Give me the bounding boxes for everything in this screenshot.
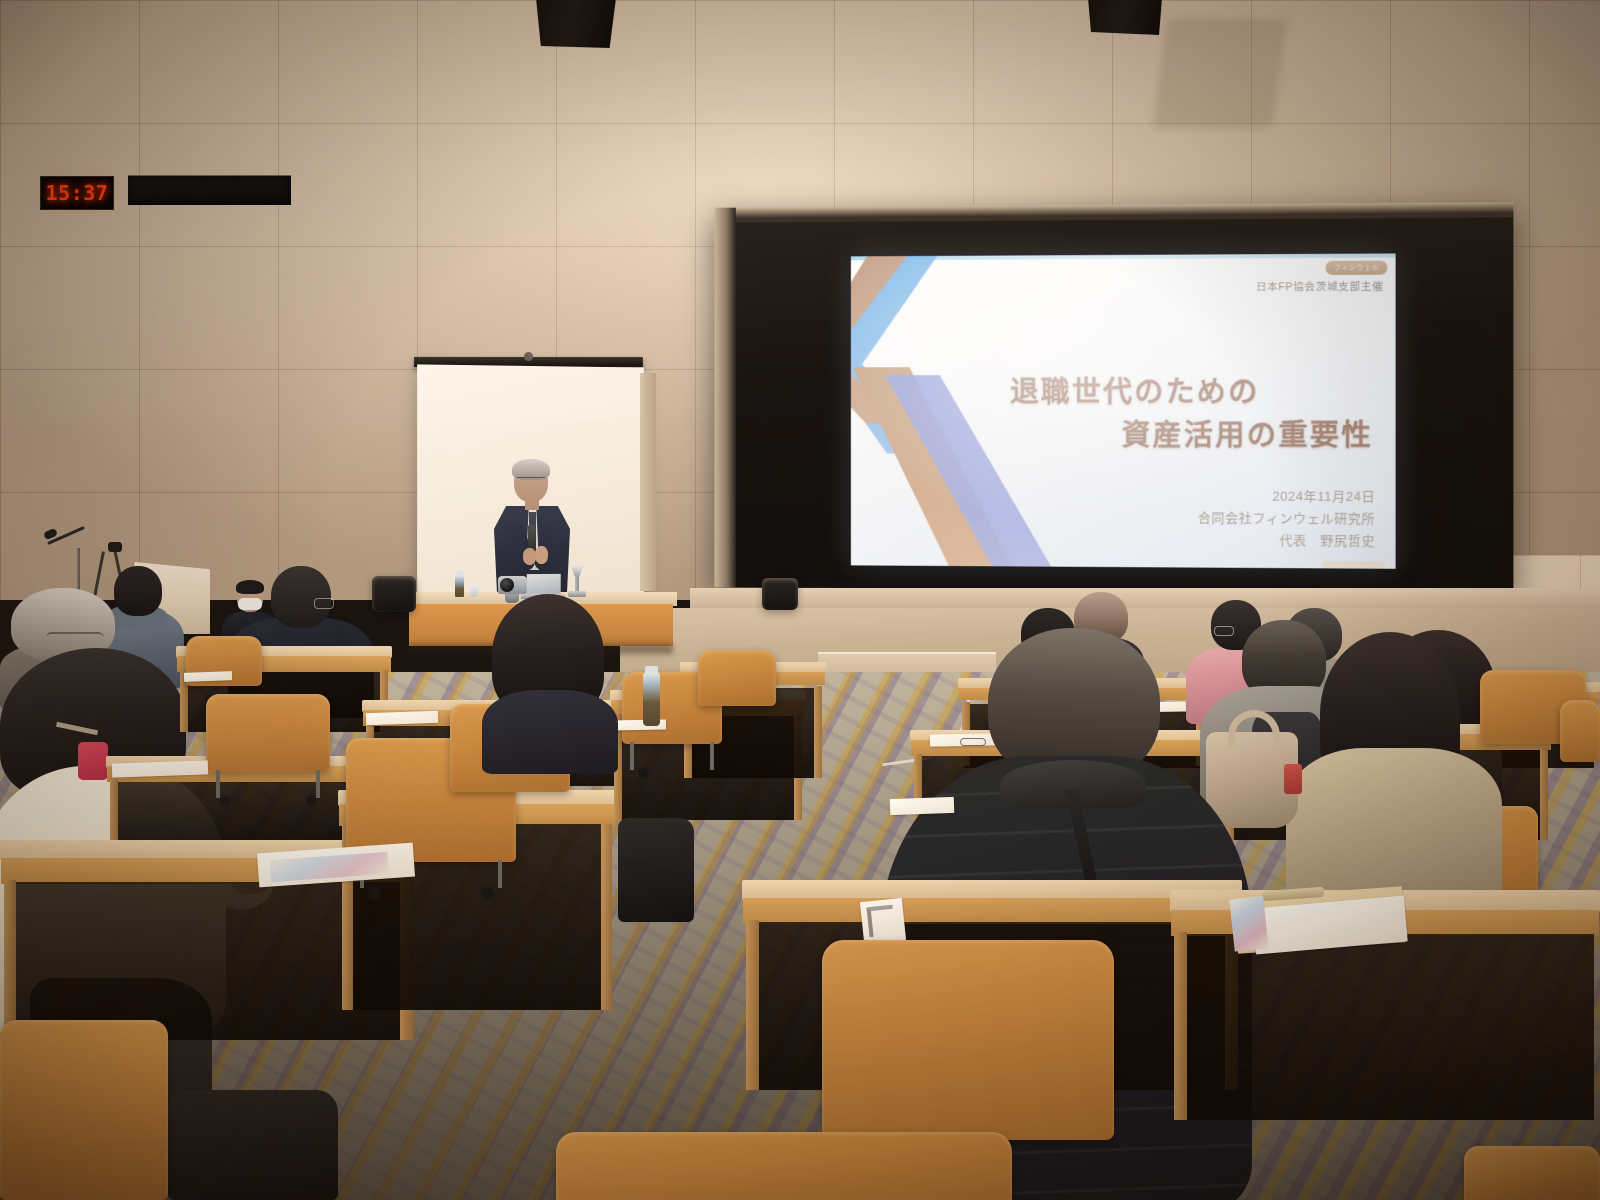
- slide-logo-badge: フィンウェル: [1326, 261, 1388, 275]
- handout-papers-left-mid: [366, 711, 438, 726]
- camera-lens-icon: [500, 578, 514, 592]
- paper-mark: [867, 905, 896, 938]
- person-center-longhair: [482, 594, 618, 772]
- chair-frame: [630, 742, 714, 770]
- chair-back: [206, 694, 330, 772]
- ceiling-speaker-left-icon: [536, 0, 616, 48]
- brochure-color-right: [1229, 896, 1268, 951]
- slide-meta-date: 2024年11月24日: [1198, 485, 1375, 508]
- wall-pillar-right-of-screen: [640, 373, 656, 591]
- desk-leg-right: [1540, 748, 1548, 840]
- projection-screen: フィンウェル 日本FP協会茨城支部主催 退職世代のための 資産活用の重要性 20…: [851, 253, 1396, 568]
- presenter-glasses-icon: [517, 477, 545, 483]
- chair-back: [822, 940, 1114, 1140]
- handout-papers-right-desk2: [890, 797, 955, 815]
- desk-leg-right: [814, 686, 822, 778]
- speaker-wall-shadow: [1152, 18, 1287, 128]
- attendee-glasses-icon: [314, 598, 334, 609]
- chair-caster-left: [638, 768, 648, 778]
- chair-back: [1560, 700, 1600, 762]
- desk-leg-left: [746, 920, 759, 1090]
- slide-title-line-1: 退職世代のための: [851, 372, 1373, 415]
- pink-pouch: [78, 742, 108, 780]
- desk-underspace: [1176, 934, 1594, 1120]
- seminar-hall-photo: 15:37 フィンウェル 日本FP協会茨城支部主催 退職世代のための 資産活用の…: [0, 0, 1600, 1200]
- water-bottle-desk: [643, 672, 660, 726]
- laptop-screen: [527, 574, 561, 595]
- screen-alcove: フィンウェル 日本FP協会茨城支部主催 退職世代のための 資産活用の重要性 20…: [714, 202, 1513, 593]
- slide-title-block: 退職世代のための 資産活用の重要性: [851, 372, 1373, 459]
- chair-back: [372, 576, 416, 612]
- chair-front-left-foreground[interactable]: [0, 1020, 168, 1200]
- water-bottle-desk-cap: [645, 666, 658, 675]
- attendee-head: [271, 566, 331, 628]
- attendee-coat: [1286, 748, 1502, 906]
- chair-stage-right[interactable]: [762, 578, 798, 610]
- chair-back: [0, 1020, 168, 1200]
- desk-leg-right: [601, 824, 612, 1010]
- attendee-body: [482, 690, 618, 774]
- ceiling-speaker-right-icon: [1088, 0, 1162, 35]
- chair-caster-left: [368, 887, 381, 900]
- presenter-right-hand: [535, 546, 548, 564]
- water-bottle: [455, 575, 464, 597]
- handout-papers-left-back: [184, 671, 232, 682]
- tripod-head: [108, 542, 122, 552]
- desk-leg-left: [1174, 932, 1187, 1120]
- chair-stage-left[interactable]: [372, 576, 416, 612]
- clock-time-display: 15:37: [46, 181, 109, 205]
- slide-host-line: 日本FP協会茨城支部主催: [1256, 279, 1383, 295]
- desk-leg-left: [110, 780, 118, 842]
- chair-caster-right: [306, 796, 316, 806]
- alcove-left-jamb: [714, 208, 735, 588]
- chair-right-foreground[interactable]: [822, 940, 1114, 1140]
- pull-down-screen-knob: [524, 352, 533, 361]
- slide-meta-company: 合同会社フィンウェル研究所: [1198, 507, 1375, 530]
- chair-back: [698, 650, 776, 706]
- drinking-glass: [470, 584, 478, 597]
- desk-leg-left: [4, 880, 16, 1040]
- desk-top: [742, 880, 1242, 900]
- chair-caster-right: [481, 887, 494, 900]
- chair-back: [762, 578, 798, 610]
- wall-digital-clock: 15:37: [40, 176, 114, 210]
- slide-bottom-tab: [1322, 561, 1385, 569]
- floor-bag-left: [168, 1090, 338, 1200]
- slide-meta-author: 代表 野尻哲史: [1198, 529, 1375, 552]
- attendee-tan-coat-longhair: [1286, 632, 1502, 904]
- chair-back: [556, 1132, 1012, 1200]
- chair-left-row2[interactable]: [206, 694, 330, 772]
- desk-front: [743, 898, 1241, 924]
- chair-bottom-center[interactable]: [556, 1132, 1012, 1200]
- chair-caster-left: [220, 796, 230, 806]
- chair-bottom-right[interactable]: [1464, 1146, 1600, 1200]
- chair-left-aisle-back[interactable]: [698, 650, 776, 706]
- floor-bag-center: [618, 818, 694, 922]
- wall-sign-panel: [128, 175, 291, 205]
- slide-title-line-2: 資産活用の重要性: [851, 415, 1373, 459]
- attendee-glasses-icon: [46, 632, 104, 644]
- water-bottle-cap: [456, 571, 463, 576]
- chair-back: [1464, 1146, 1600, 1200]
- slide-meta-block: 2024年11月24日 合同会社フィンウェル研究所 代表 野尻哲史: [1198, 485, 1375, 552]
- chair-frame: [216, 770, 320, 798]
- chair-right-far[interactable]: [1560, 700, 1600, 762]
- desk-red-item: [1284, 764, 1302, 794]
